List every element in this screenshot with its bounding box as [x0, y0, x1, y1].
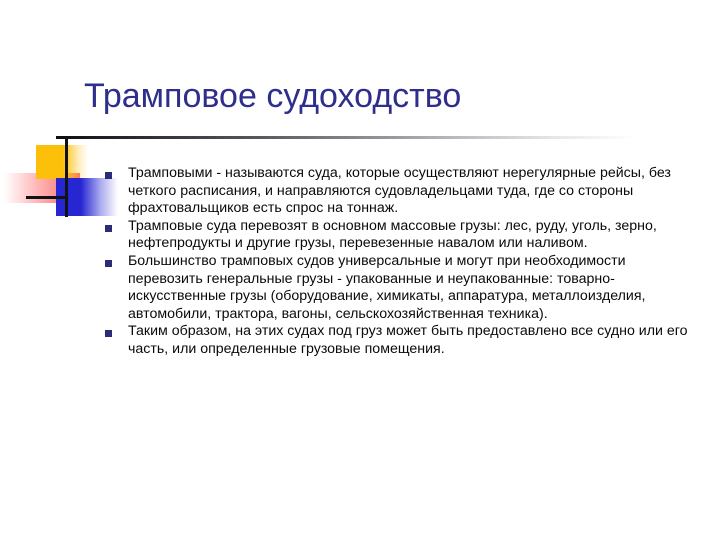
bullet-text: Трамповые суда перевозят в основном масс…	[128, 218, 690, 253]
decoration-horizontal-rule-short	[26, 196, 68, 199]
slide-title: Трамповое судоходство	[84, 74, 684, 118]
presentation-slide: Трамповое судоходство Трамповыми - назыв…	[0, 0, 720, 540]
title-underline-rule	[56, 136, 636, 139]
decoration-vertical-rule	[65, 139, 68, 217]
square-bullet-icon	[105, 330, 112, 337]
decoration-yellow-square	[36, 145, 88, 179]
square-bullet-icon	[105, 172, 112, 179]
bullet-text: Трамповыми - называются суда, которые ос…	[128, 165, 690, 218]
square-bullet-icon	[105, 225, 112, 232]
bullet-text: Таким образом, на этих судах под груз мо…	[128, 323, 690, 358]
bullet-item: Трамповые суда перевозят в основном масс…	[104, 218, 690, 253]
bullet-item: Трамповыми - называются суда, которые ос…	[104, 165, 690, 218]
slide-body: Трамповыми - называются суда, которые ос…	[104, 165, 690, 359]
bullet-text: Большинство трамповых судов универсальны…	[128, 253, 690, 323]
bullet-item: Большинство трамповых судов универсальны…	[104, 253, 690, 323]
bullet-item: Таким образом, на этих судах под груз мо…	[104, 323, 690, 358]
square-bullet-icon	[105, 260, 112, 267]
decoration-red-block	[4, 173, 80, 203]
